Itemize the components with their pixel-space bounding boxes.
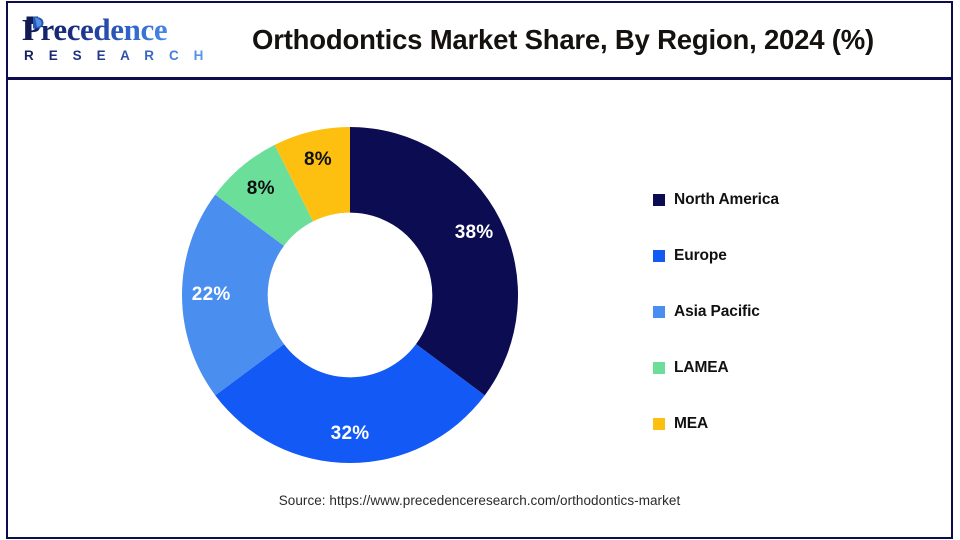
donut-slice-label: 8% <box>247 178 275 200</box>
donut-chart: 38%32%22%8%8% <box>180 125 520 465</box>
legend-color-swatch <box>653 194 665 206</box>
frame-border-bottom <box>6 537 953 539</box>
donut-slice[interactable] <box>350 127 518 395</box>
legend-item-label: MEA <box>674 415 708 433</box>
legend-item-label: North America <box>674 191 779 209</box>
legend-item[interactable]: MEA <box>653 396 923 452</box>
donut-chart-svg <box>180 125 520 465</box>
legend-item-label: LAMEA <box>674 359 729 377</box>
donut-slice-group <box>182 127 518 463</box>
chart-header: Precedence R E S E A R C H Orthodontics … <box>8 3 951 77</box>
precedence-research-logo: Precedence R E S E A R C H <box>18 12 178 68</box>
legend-item[interactable]: North America <box>653 172 923 228</box>
chart-plot-area: 38%32%22%8%8% North AmericaEuropeAsia Pa… <box>8 80 951 537</box>
legend-item[interactable]: LAMEA <box>653 340 923 396</box>
donut-slice-label: 38% <box>455 222 494 244</box>
frame-border-right <box>951 1 953 539</box>
legend-color-swatch <box>653 362 665 374</box>
chart-legend: North AmericaEuropeAsia PacificLAMEAMEA <box>653 172 923 452</box>
donut-slice-label: 32% <box>331 423 370 445</box>
source-caption: Source: https://www.precedenceresearch.c… <box>8 493 951 508</box>
logo-subtext: R E S E A R C H <box>24 48 209 64</box>
page-title: Orthodontics Market Share, By Region, 20… <box>193 3 933 77</box>
donut-slice-label: 22% <box>192 284 231 306</box>
legend-color-swatch <box>653 306 665 318</box>
legend-item-label: Asia Pacific <box>674 303 760 321</box>
legend-item[interactable]: Asia Pacific <box>653 284 923 340</box>
legend-color-swatch <box>653 418 665 430</box>
chart-page: Precedence R E S E A R C H Orthodontics … <box>0 0 960 540</box>
logo-wordmark: Precedence <box>22 13 167 47</box>
legend-color-swatch <box>653 250 665 262</box>
donut-slice-label: 8% <box>304 149 332 171</box>
legend-item[interactable]: Europe <box>653 228 923 284</box>
legend-item-label: Europe <box>674 247 727 265</box>
